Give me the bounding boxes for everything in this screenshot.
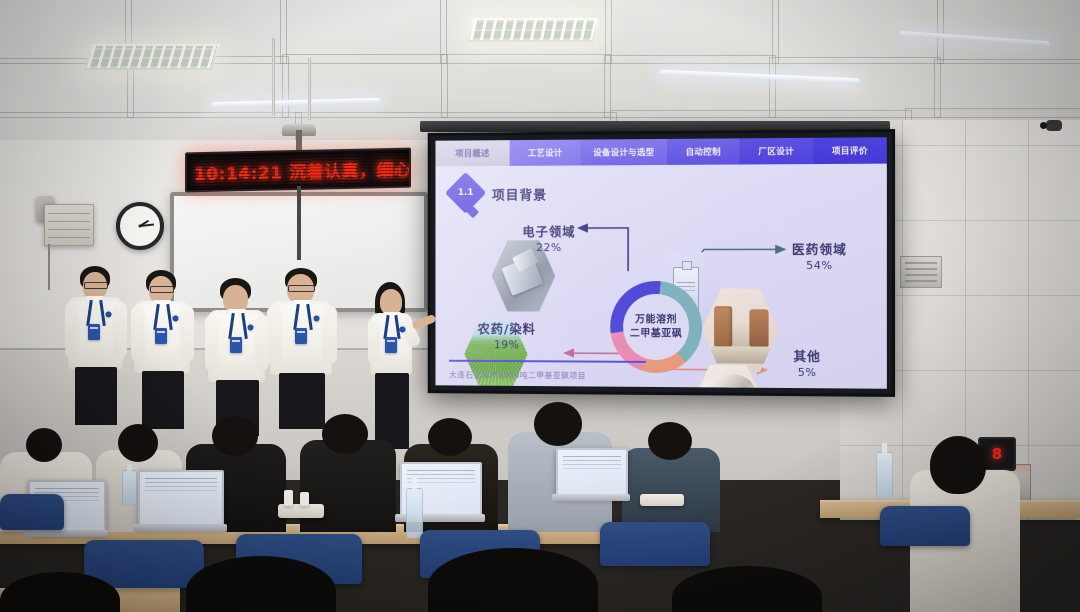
slide-body: 1.1 项目背景 (435, 164, 886, 389)
head (534, 402, 582, 446)
head (118, 424, 158, 462)
shirt-emblem (104, 310, 113, 319)
tab-project-evaluation[interactable]: 项目评价 (813, 137, 887, 164)
label-other-percent: 5% (771, 366, 844, 380)
arm-right (180, 306, 194, 362)
lamp-mount (296, 130, 302, 152)
tab-plant-design[interactable]: 厂区设计 (740, 138, 813, 165)
label-electronics-name: 电子领域 (500, 221, 598, 240)
label-electronics: 电子领域 22% (500, 221, 598, 254)
glasses-icon (150, 286, 174, 293)
power-plug (284, 490, 293, 506)
head (428, 418, 472, 456)
label-agro: 农药/染料 19% (453, 318, 561, 351)
chair[interactable] (0, 494, 64, 530)
power-strip (640, 494, 684, 506)
arm-right (322, 306, 337, 364)
head (322, 414, 368, 454)
water-bottle (876, 452, 893, 498)
label-other: 其他 5% (771, 346, 844, 380)
glasses-icon (84, 282, 108, 289)
label-other-name: 其他 (771, 346, 844, 366)
head (930, 436, 986, 494)
ceiling-light-panel (84, 44, 219, 70)
head (26, 428, 62, 462)
section-number: 1.1 (451, 178, 480, 208)
ceiling-support-pipe (308, 58, 311, 120)
donut-center-label: 万能溶剂 二甲基亚砜 (610, 313, 702, 340)
power-strip (278, 504, 324, 518)
microphone-stand (297, 186, 301, 260)
water-bottle (406, 488, 423, 538)
chair[interactable] (600, 522, 710, 566)
label-pharma: 医药领域 54% (769, 239, 871, 272)
wall-vent (900, 256, 942, 288)
security-camera-icon (1046, 120, 1062, 131)
label-pharma-name: 医药领域 (769, 239, 871, 258)
arm-right (113, 302, 127, 358)
electrical-box (44, 204, 94, 246)
arm-left (65, 302, 79, 358)
arm-left (267, 306, 282, 364)
power-cord (48, 244, 50, 290)
label-agro-percent: 19% (453, 338, 561, 351)
led-ticker-text: 10:14:21 沉着认真，细心守纪 (187, 154, 411, 184)
trousers (375, 373, 409, 449)
section-number-badge: 1.1 (445, 172, 486, 214)
donut-chart: 万能溶剂 二甲基亚砜 (610, 281, 702, 373)
ceiling-light-panel (467, 18, 598, 42)
tab-automatic-control[interactable]: 自动控制 (667, 138, 740, 165)
section-title: 项目背景 (492, 185, 547, 204)
head (648, 422, 692, 460)
shirt-emblem (171, 314, 180, 323)
tab-project-overview[interactable]: 项目概述 (435, 140, 509, 166)
glasses-icon (288, 285, 315, 292)
head (223, 285, 248, 313)
label-electronics-percent: 22% (500, 241, 598, 254)
audience-silhouette (672, 566, 822, 612)
classroom-scene: 10:14:21 沉着认真，细心守纪 项目概述 工艺设计 设备设计与选型 自动控… (0, 0, 1080, 612)
tab-process-design[interactable]: 工艺设计 (510, 140, 581, 166)
presentation-slide: 项目概述 工艺设计 设备设计与选型 自动控制 厂区设计 项目评价 1.1 项目背… (435, 137, 886, 389)
id-badge (385, 337, 397, 353)
water-bottle (122, 470, 137, 506)
projection-screen[interactable]: 项目概述 工艺设计 设备设计与选型 自动控制 厂区设计 项目评价 1.1 项目背… (428, 129, 895, 397)
countdown-timer-value: 8 (992, 445, 1002, 463)
head (212, 416, 258, 456)
arm-left (205, 315, 219, 371)
shirt-emblem (312, 314, 321, 323)
arm-left (131, 306, 145, 362)
trousers (75, 367, 117, 425)
id-badge (230, 337, 242, 353)
arm-left (368, 318, 380, 364)
head (380, 289, 402, 315)
chair[interactable] (880, 506, 970, 546)
id-badge (155, 328, 167, 344)
slide-footer-text: 大连石化年产9000吨二甲基亚砜项目 (449, 370, 586, 382)
trousers (142, 371, 184, 429)
slide-tab-bar: 项目概述 工艺设计 设备设计与选型 自动控制 厂区设计 项目评价 (435, 137, 886, 166)
power-plug (300, 492, 309, 506)
id-badge (295, 328, 307, 344)
donut-center-line2: 二甲基亚砜 (610, 327, 702, 341)
label-agro-name: 农药/染料 (453, 318, 561, 337)
audience-member (622, 448, 720, 532)
donut-center-line1: 万能溶剂 (610, 313, 702, 327)
label-pharma-percent: 54% (769, 259, 871, 272)
trousers (279, 373, 325, 429)
id-badge (88, 324, 100, 340)
ceiling-support-pipe (272, 38, 275, 116)
tab-equipment-design[interactable]: 设备设计与选型 (581, 139, 667, 166)
shirt-emblem (246, 323, 255, 332)
audience-silhouette (428, 548, 598, 612)
wall-clock (116, 202, 164, 250)
